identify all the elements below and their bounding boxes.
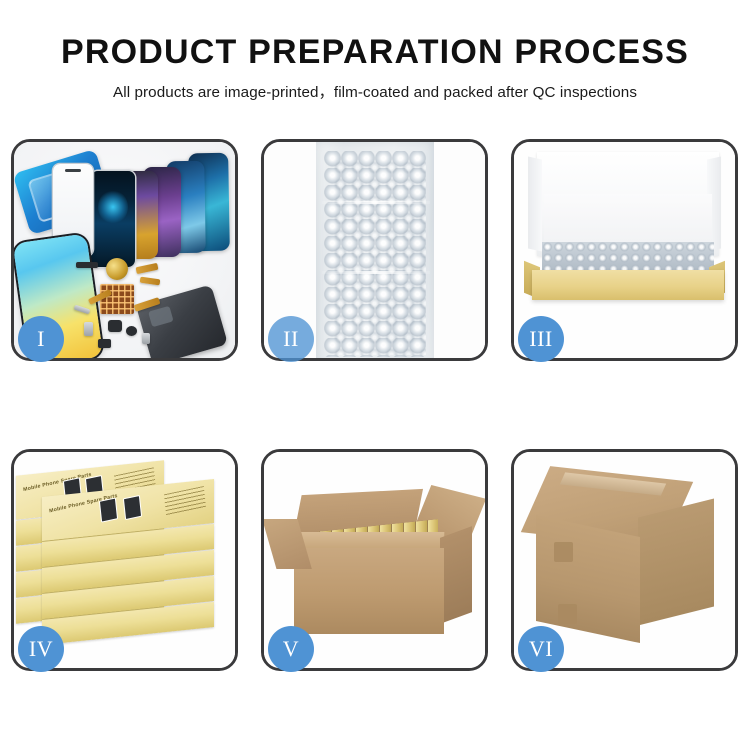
carton-tab-upper: [554, 542, 573, 562]
step-badge-4: IV: [18, 626, 64, 672]
phone-screen-1: [91, 171, 135, 267]
wrap-seam-1: [322, 201, 430, 204]
wrap-seam-2: [322, 271, 430, 274]
carton-front-panel: [536, 515, 640, 643]
step-panel-5: V: [261, 449, 488, 671]
carton-side-face: [638, 499, 714, 626]
phone-display-stack: [81, 151, 231, 263]
bubble-pattern-back: [332, 159, 426, 355]
copper-coil-part: [106, 258, 128, 280]
carton-right-side: [440, 526, 472, 624]
box-stack-front: Mobile Phone Spare Parts: [42, 488, 214, 637]
box-phone-image-front-1: [99, 497, 118, 522]
step-badge-2: II: [268, 316, 314, 362]
step-badge-5: V: [268, 626, 314, 672]
process-steps-grid: I II: [11, 139, 739, 693]
carton-tab-lower: [558, 604, 577, 624]
step-panel-2: II: [261, 139, 488, 361]
page-subtitle: All products are image-printed，film-coat…: [0, 80, 750, 102]
box-phone-image-front-2: [123, 495, 142, 520]
battery-connector-part: [84, 322, 93, 336]
screw-set-part: [142, 333, 150, 344]
page-title: PRODUCT PREPARATION PROCESS: [0, 34, 750, 71]
flex-cable-part-2: [140, 277, 161, 286]
step-panel-6: VI: [511, 449, 738, 671]
step-panel-1: I: [11, 139, 238, 361]
bubble-wrap-sheet: [316, 142, 434, 358]
phone-back-housing: [136, 284, 228, 358]
step-badge-1: I: [18, 316, 64, 362]
camera-module-part: [108, 320, 122, 332]
box-lid-left-flap: [528, 157, 542, 252]
step-panel-4: Mobile Phone Spare Parts Mobile Phone Sp…: [11, 449, 238, 671]
carton-front-face: [294, 548, 444, 634]
box-spec-lines-front: [164, 486, 206, 516]
step-badge-3: III: [518, 316, 564, 362]
sim-tray-part: [98, 339, 111, 348]
step-panel-3: III: [511, 139, 738, 361]
speaker-mesh-part: [76, 262, 98, 268]
product-preparation-infographic: PRODUCT PREPARATION PROCESS All products…: [0, 0, 750, 750]
flex-cable-part-1: [136, 263, 159, 274]
vibrator-part: [126, 326, 137, 336]
connector-board-part: [100, 284, 134, 314]
foam-insert: [544, 194, 712, 248]
page-header: PRODUCT PREPARATION PROCESS All products…: [0, 0, 750, 102]
step-badge-6: VI: [518, 626, 564, 672]
kraft-box-front: [532, 270, 724, 300]
